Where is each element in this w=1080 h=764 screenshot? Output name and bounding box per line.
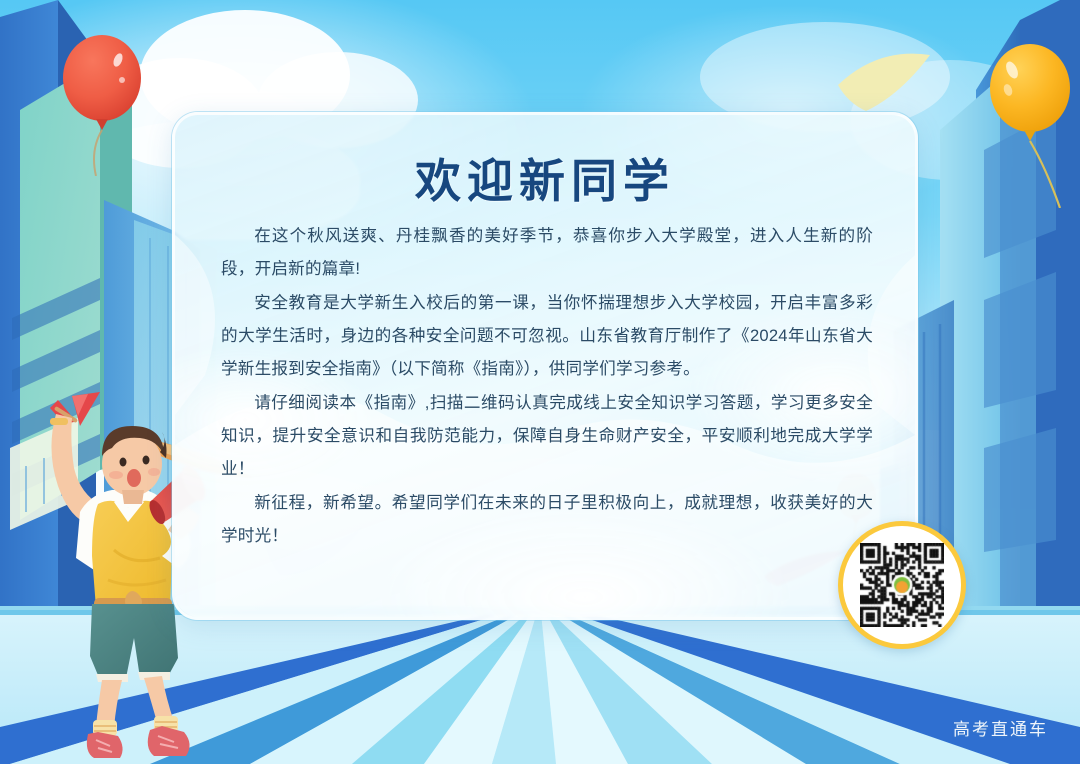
floating-paper-yellow — [830, 45, 940, 115]
paragraph-1: 在这个秋风送爽、丹桂飘香的美好季节，恭喜你步入大学殿堂，进入人生新的阶段，开启新… — [221, 219, 873, 285]
paragraph-4: 新征程，新希望。希望同学们在未来的日子里积极向上，成就理想，收获美好的大学时光！ — [221, 486, 873, 552]
content-card: 欢迎新同学 在这个秋风送爽、丹桂飘香的美好季节，恭喜你步入大学殿堂，进入人生新的… — [172, 112, 918, 620]
watermark: 高考直通车 — [953, 715, 1048, 740]
red-balloon — [56, 26, 148, 176]
paragraph-2: 安全教育是大学新生入校后的第一课，当你怀揣理想步入大学校园，开启丰富多彩的大学生… — [221, 286, 873, 385]
page-title: 欢迎新同学 — [175, 145, 915, 211]
body-text: 在这个秋风送爽、丹桂飘香的美好季节，恭喜你步入大学殿堂，进入人生新的阶段，开启新… — [221, 219, 873, 553]
paragraph-3: 请仔细阅读本《指南》,扫描二维码认真完成线上安全知识学习答题，学习更多安全知识，… — [221, 386, 873, 485]
qr-code-badge[interactable] — [838, 521, 966, 649]
poster-canvas: 欢迎新同学 在这个秋风送爽、丹桂飘香的美好季节，恭喜你步入大学殿堂，进入人生新的… — [0, 0, 1080, 764]
yellow-balloon — [986, 38, 1080, 208]
qr-code[interactable] — [860, 543, 944, 627]
